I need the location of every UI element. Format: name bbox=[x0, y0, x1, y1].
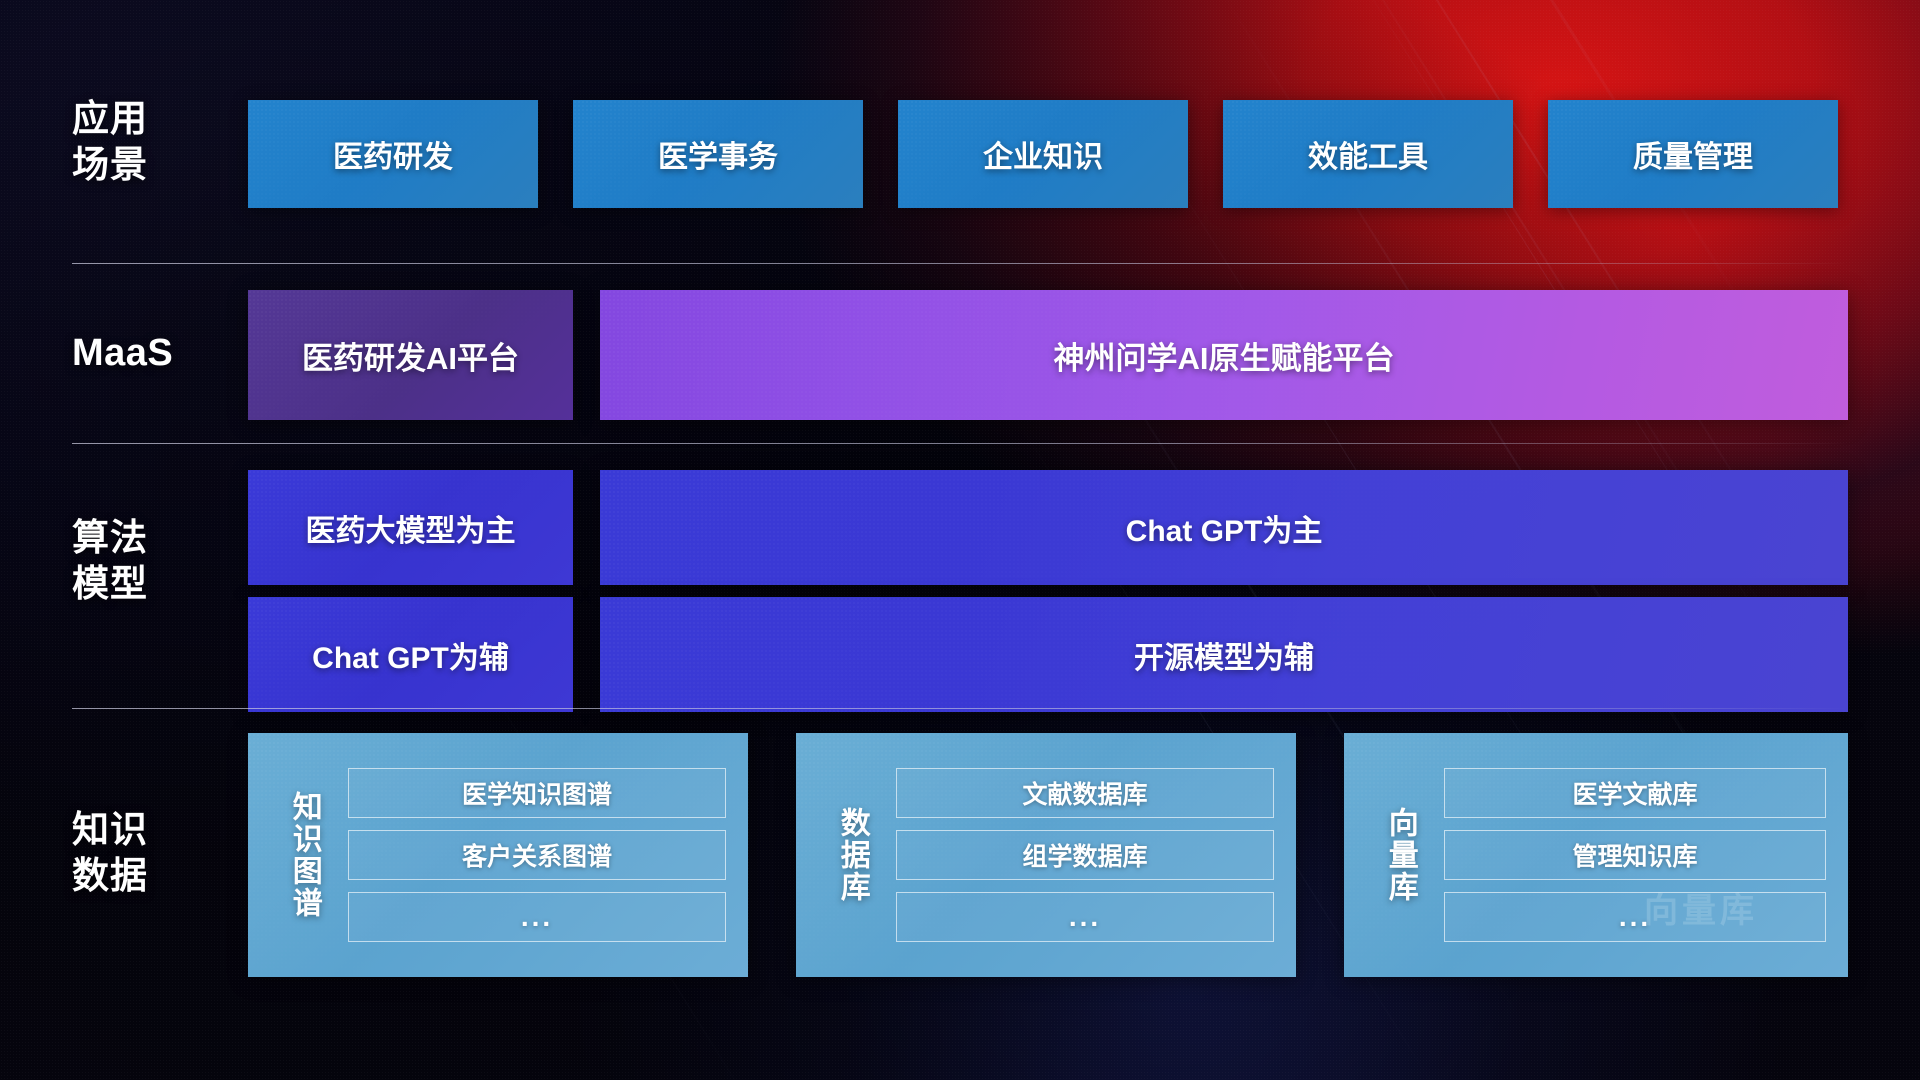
app-card-medical-affairs[interactable]: 医学事务 bbox=[573, 100, 863, 208]
knowledge-item[interactable]: 组学数据库 bbox=[896, 830, 1274, 880]
row-label-line-2: 场景 bbox=[72, 142, 204, 188]
row-label-maas: MaaS bbox=[72, 330, 204, 378]
knowledge-panel-title: 知识图谱 bbox=[274, 757, 334, 953]
knowledge-panel-database[interactable]: 数据库 文献数据库 组学数据库 ... bbox=[796, 733, 1296, 977]
knowledge-panel-items: 医学知识图谱 客户关系图谱 ... bbox=[334, 746, 748, 964]
knowledge-item[interactable]: 管理知识库 bbox=[1444, 830, 1826, 880]
knowledge-item[interactable]: 客户关系图谱 bbox=[348, 830, 726, 880]
divider-1 bbox=[72, 263, 1848, 264]
row-label-line-1: 算法 bbox=[72, 515, 204, 561]
maas-card-drug-rnd-ai-platform[interactable]: 医药研发AI平台 bbox=[248, 290, 573, 420]
knowledge-item[interactable]: 医学知识图谱 bbox=[348, 768, 726, 818]
knowledge-panel-vector-store[interactable]: 向量库 向量库 医学文献库 管理知识库 ... bbox=[1344, 733, 1848, 977]
row-label-algorithm-models: 算法 模型 bbox=[72, 515, 204, 608]
model-card-chatgpt-secondary[interactable]: Chat GPT为辅 bbox=[248, 597, 573, 712]
knowledge-panel-title: 数据库 bbox=[822, 757, 882, 953]
divider-2 bbox=[72, 443, 1848, 444]
knowledge-item-more[interactable]: ... bbox=[348, 892, 726, 942]
row-knowledge-data: 知识 数据 知识图谱 医学知识图谱 客户关系图谱 ... 数据库 文献数据库 组… bbox=[0, 733, 1920, 977]
row-algorithm-models: 算法 模型 医药大模型为主 Chat GPT为主 Chat GPT为辅 开源模型… bbox=[0, 470, 1920, 680]
divider-3 bbox=[72, 708, 1848, 709]
model-card-pharma-llm-primary[interactable]: 医药大模型为主 bbox=[248, 470, 573, 585]
row-label-application-scenarios: 应用 场景 bbox=[72, 96, 204, 189]
row-label-line-1: 知识 bbox=[72, 807, 204, 853]
row-label-line-2: 模型 bbox=[72, 561, 204, 607]
knowledge-panel-items: 文献数据库 组学数据库 ... bbox=[882, 746, 1296, 964]
model-card-opensource-secondary[interactable]: 开源模型为辅 bbox=[600, 597, 1848, 712]
app-card-quality-management[interactable]: 质量管理 bbox=[1548, 100, 1838, 208]
knowledge-item-more[interactable]: ... bbox=[1444, 892, 1826, 942]
maas-card-shenzhou-wenxue-platform[interactable]: 神州问学AI原生赋能平台 bbox=[600, 290, 1848, 420]
row-label-knowledge-data: 知识 数据 bbox=[72, 807, 204, 900]
row-application-scenarios: 应用 场景 医药研发 医学事务 企业知识 效能工具 质量管理 bbox=[0, 100, 1920, 208]
knowledge-panel-title: 向量库 bbox=[1370, 757, 1430, 953]
row-label-line-2: 数据 bbox=[72, 853, 204, 899]
architecture-diagram: 应用 场景 医药研发 医学事务 企业知识 效能工具 质量管理 MaaS 医药研发… bbox=[0, 0, 1920, 1080]
knowledge-panel-items: 医学文献库 管理知识库 ... bbox=[1430, 746, 1848, 964]
row-maas: MaaS 医药研发AI平台 神州问学AI原生赋能平台 bbox=[0, 290, 1920, 420]
knowledge-item[interactable]: 文献数据库 bbox=[896, 768, 1274, 818]
app-card-enterprise-knowledge[interactable]: 企业知识 bbox=[898, 100, 1188, 208]
knowledge-panel-knowledge-graph[interactable]: 知识图谱 医学知识图谱 客户关系图谱 ... bbox=[248, 733, 748, 977]
app-card-efficiency-tools[interactable]: 效能工具 bbox=[1223, 100, 1513, 208]
knowledge-item-more[interactable]: ... bbox=[896, 892, 1274, 942]
app-card-drug-rnd[interactable]: 医药研发 bbox=[248, 100, 538, 208]
model-card-chatgpt-primary[interactable]: Chat GPT为主 bbox=[600, 470, 1848, 585]
row-label-line-1: 应用 bbox=[72, 96, 204, 142]
knowledge-item[interactable]: 医学文献库 bbox=[1444, 768, 1826, 818]
